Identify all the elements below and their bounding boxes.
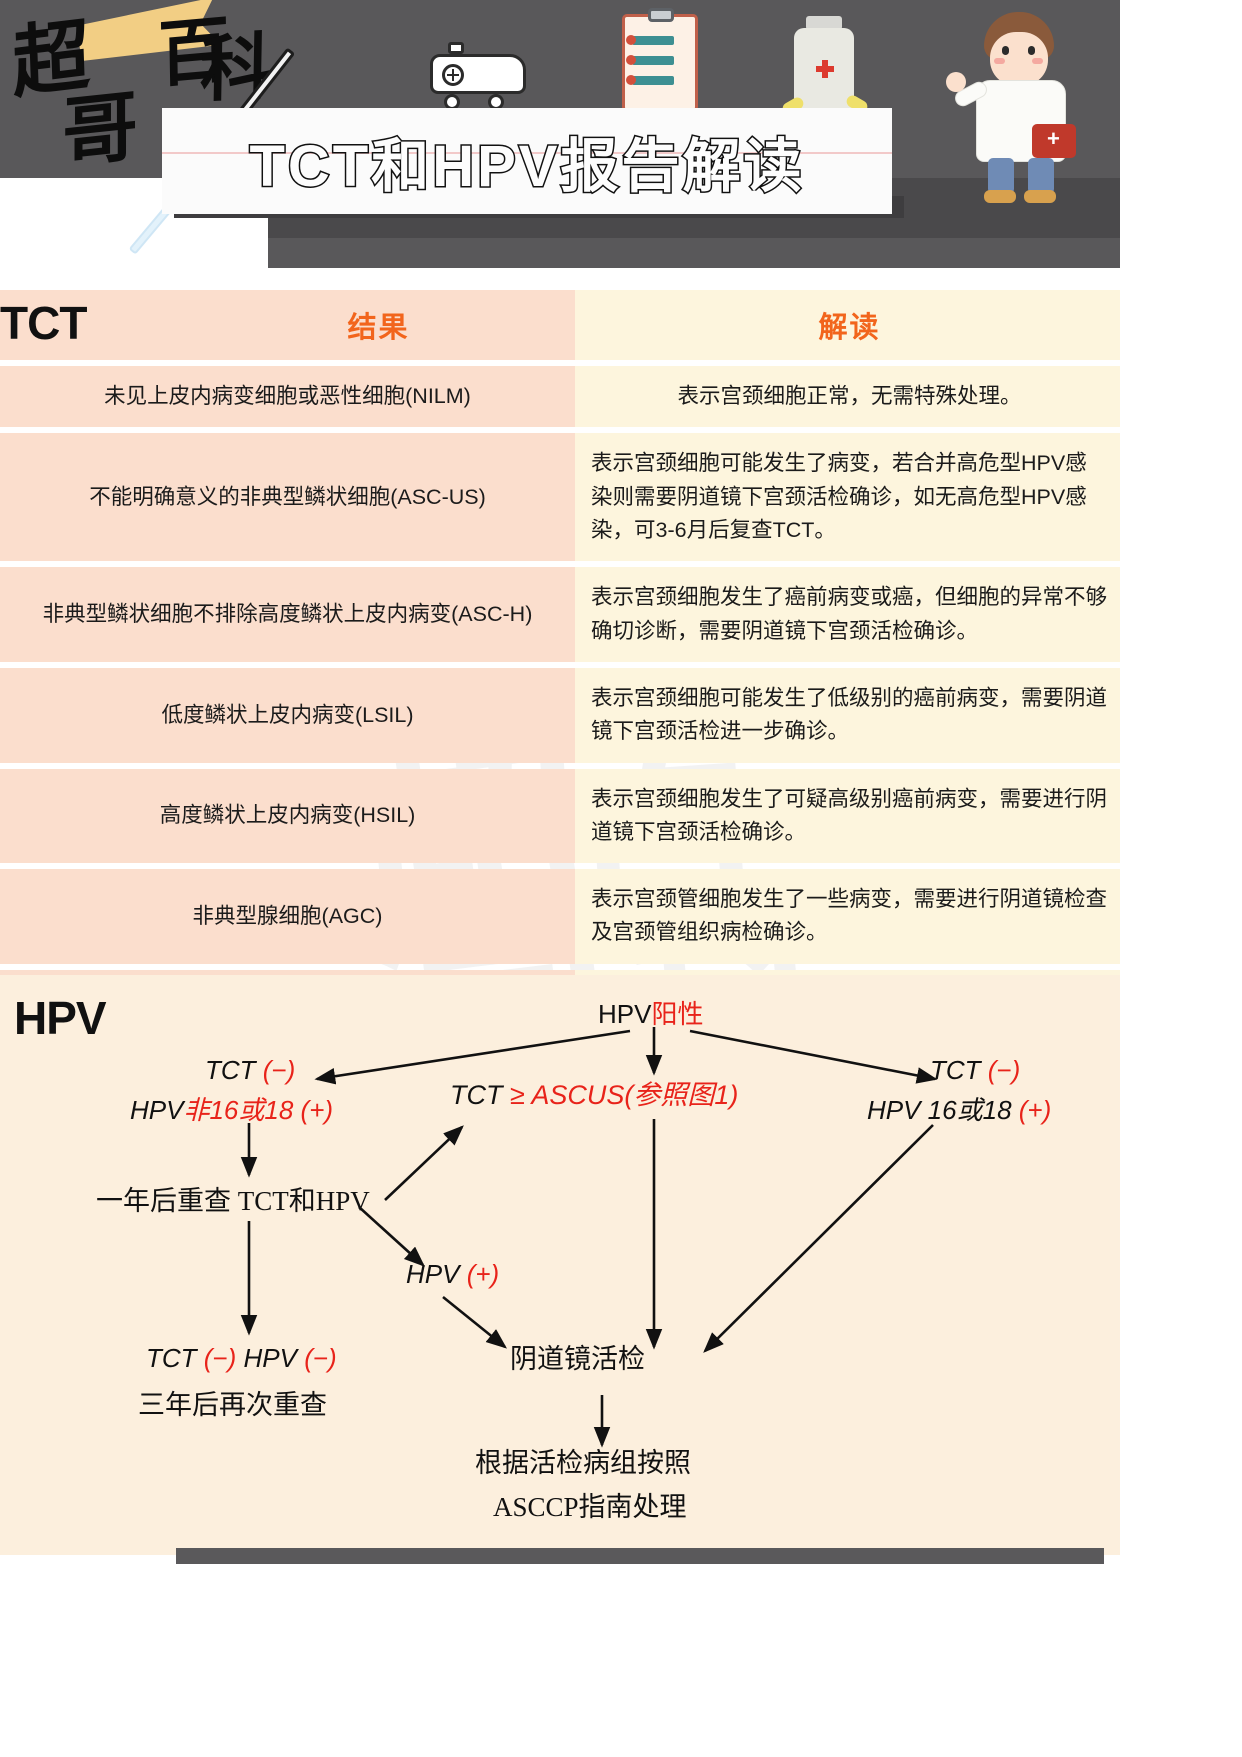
right-margin xyxy=(1120,0,1242,1757)
node-hpv-positive-recheck: HPV (+) xyxy=(406,1257,499,1292)
result-text: 未见上皮内病变细胞或恶性细胞(NILM) xyxy=(104,380,471,413)
hpv-flowchart: HPV阳性 TCT (−) HPV非16或18 (+) TCT ≥ ASCUS(… xyxy=(0,975,1120,1555)
hpv-neg-value: (−) xyxy=(304,1343,337,1373)
ambulance-icon xyxy=(430,40,526,102)
interpretation-text: 表示宫颈细胞发生了癌前病变或癌，但细胞的异常不够确切诊断，需要阴道镜下宫颈活检确… xyxy=(591,581,1108,648)
node-hpv-positive: HPV阳性 xyxy=(598,997,703,1032)
column-header-result: 结果 xyxy=(347,304,409,346)
page-title: TCT和HPV报告解读 xyxy=(162,108,892,214)
cell-interpretation: 表示宫颈管细胞发生了一些病变，需要进行阴道镜检查及宫颈管组织病检确诊。 xyxy=(575,869,1120,964)
right-tct-label: TCT xyxy=(930,1055,988,1085)
left-hpv-value: 非16或18 (+) xyxy=(183,1095,333,1125)
node-final-guideline-line1: 根据活检病组按照 xyxy=(475,1445,691,1481)
tct-neg-label: TCT xyxy=(146,1343,204,1373)
brand-char-1: 超 xyxy=(11,23,91,97)
result-text: 低度鳞状上皮内病变(LSIL) xyxy=(161,699,413,732)
left-tct-value: (−) xyxy=(263,1055,296,1085)
column-header-interpretation: 解读 xyxy=(818,304,880,346)
tct-section-label: TCT xyxy=(0,296,86,350)
hpv-section: HPV xyxy=(0,975,1120,1555)
node-hpv-positive-value: 阳性 xyxy=(651,999,703,1029)
recheck-one-year-en: TCT和HPV xyxy=(231,1186,370,1216)
clipboard-icon xyxy=(622,8,698,112)
interpretation-text: 表示宫颈管细胞发生了一些病变，需要进行阴道镜检查及宫颈管组织病检确诊。 xyxy=(591,883,1108,950)
node-recheck-one-year: 一年后重查 TCT和HPV xyxy=(96,1183,370,1219)
result-text: 高度鳞状上皮内病变(HSIL) xyxy=(160,799,416,832)
table-row: 非典型腺细胞(AGC) 表示宫颈管细胞发生了一些病变，需要进行阴道镜检查及宫颈管… xyxy=(0,869,1120,964)
table-header-row: 结果 解读 xyxy=(0,290,1120,360)
cell-result: 不能明确意义的非典型鳞状细胞(ASC-US) xyxy=(0,433,575,561)
left-hpv-label: HPV xyxy=(130,1095,183,1125)
node-right-tct-negative: TCT (−) xyxy=(930,1053,1020,1088)
interpretation-text: 表示宫颈细胞发生了可疑高级别癌前病变，需要进行阴道镜下宫颈活检确诊。 xyxy=(591,783,1108,850)
header-banner: 超 百 哥 科 xyxy=(0,0,1242,268)
right-hpv-value: (+) xyxy=(1019,1095,1052,1125)
tct-neg-value: (−) xyxy=(204,1343,237,1373)
node-left-tct-negative: TCT (−) xyxy=(205,1053,295,1088)
node-tct-neg-hpv-neg: TCT (−) HPV (−) xyxy=(146,1341,337,1376)
infographic-page: 超 百 哥 科 xyxy=(0,0,1242,1757)
result-text: 非典型腺细胞(AGC) xyxy=(193,900,383,933)
result-text: 非典型鳞状细胞不排除高度鳞状上皮内病变(ASC-H) xyxy=(43,598,533,631)
footer-bar xyxy=(176,1548,1104,1564)
cell-result: 非典型鳞状细胞不排除高度鳞状上皮内病变(ASC-H) xyxy=(0,567,575,662)
cell-result: 低度鳞状上皮内病变(LSIL) xyxy=(0,668,575,763)
interpretation-text: 表示宫颈细胞可能发生了病变，若合并高危型HPV感染则需要阴道镜下宫颈活检确诊，如… xyxy=(591,447,1108,547)
hpv-pos-label: HPV xyxy=(406,1259,467,1289)
node-left-hpv-type: HPV非16或18 (+) xyxy=(130,1093,333,1128)
node-three-year-recheck: 三年后再次重查 xyxy=(138,1387,327,1423)
hpv-pos-value: (+) xyxy=(467,1259,500,1289)
medicine-bottle-icon xyxy=(786,16,862,120)
interpretation-text: 表示宫颈细胞正常，无需特殊处理。 xyxy=(677,380,1021,413)
recheck-one-year-cn: 一年后重查 xyxy=(96,1186,231,1216)
table-row: 不能明确意义的非典型鳞状细胞(ASC-US) 表示宫颈细胞可能发生了病变，若合并… xyxy=(0,433,1120,561)
tct-table: 结果 解读 未见上皮内病变细胞或恶性细胞(NILM) 表示宫颈细胞正常，无需特殊… xyxy=(0,290,1120,1070)
cell-interpretation: 表示宫颈细胞可能发生了病变，若合并高危型HPV感染则需要阴道镜下宫颈活检确诊，如… xyxy=(575,433,1120,561)
node-final-guideline-line2: ASCCP指南处理 xyxy=(493,1489,687,1525)
left-tct-label: TCT xyxy=(205,1055,263,1085)
right-hpv-label: HPV 16或18 xyxy=(867,1095,1019,1125)
table-row: 非典型鳞状细胞不排除高度鳞状上皮内病变(ASC-H) 表示宫颈细胞发生了癌前病变… xyxy=(0,567,1120,662)
interpretation-text: 表示宫颈细胞可能发生了低级别的癌前病变，需要阴道镜下宫颈活检进一步确诊。 xyxy=(591,682,1108,749)
center-tct-value: ≥ ASCUS(参照图1) xyxy=(510,1080,738,1110)
center-tct-label: TCT xyxy=(450,1080,510,1110)
cell-result: 高度鳞状上皮内病变(HSIL) xyxy=(0,769,575,864)
cell-result: 未见上皮内病变细胞或恶性细胞(NILM) xyxy=(0,366,575,427)
node-right-hpv-1618: HPV 16或18 (+) xyxy=(867,1093,1051,1128)
hpv-neg-label: HPV xyxy=(236,1343,304,1373)
node-colposcopy-biopsy: 阴道镜活检 xyxy=(510,1341,645,1377)
cell-interpretation: 表示宫颈细胞发生了癌前病变或癌，但细胞的异常不够确切诊断，需要阴道镜下宫颈活检确… xyxy=(575,567,1120,662)
table-row: 低度鳞状上皮内病变(LSIL) 表示宫颈细胞可能发生了低级别的癌前病变，需要阴道… xyxy=(0,668,1120,763)
brand-char-3: 哥 xyxy=(62,96,138,167)
cell-result: 非典型腺细胞(AGC) xyxy=(0,869,575,964)
cell-interpretation: 表示宫颈细胞发生了可疑高级别癌前病变，需要进行阴道镜下宫颈活检确诊。 xyxy=(575,769,1120,864)
node-tct-gte-ascus: TCT ≥ ASCUS(参照图1) xyxy=(450,1077,738,1113)
doctor-illustration xyxy=(958,12,1090,208)
header-cell-interpretation: 解读 xyxy=(575,290,1120,360)
cell-interpretation: 表示宫颈细胞正常，无需特殊处理。 xyxy=(575,366,1120,427)
node-hpv-positive-label: HPV xyxy=(598,999,651,1029)
table-row: 未见上皮内病变细胞或恶性细胞(NILM) 表示宫颈细胞正常，无需特殊处理。 xyxy=(0,366,1120,427)
result-text: 不能明确意义的非典型鳞状细胞(ASC-US) xyxy=(89,481,486,514)
right-tct-value: (−) xyxy=(988,1055,1021,1085)
cell-interpretation: 表示宫颈细胞可能发生了低级别的癌前病变，需要阴道镜下宫颈活检进一步确诊。 xyxy=(575,668,1120,763)
table-row: 高度鳞状上皮内病变(HSIL) 表示宫颈细胞发生了可疑高级别癌前病变，需要进行阴… xyxy=(0,769,1120,864)
